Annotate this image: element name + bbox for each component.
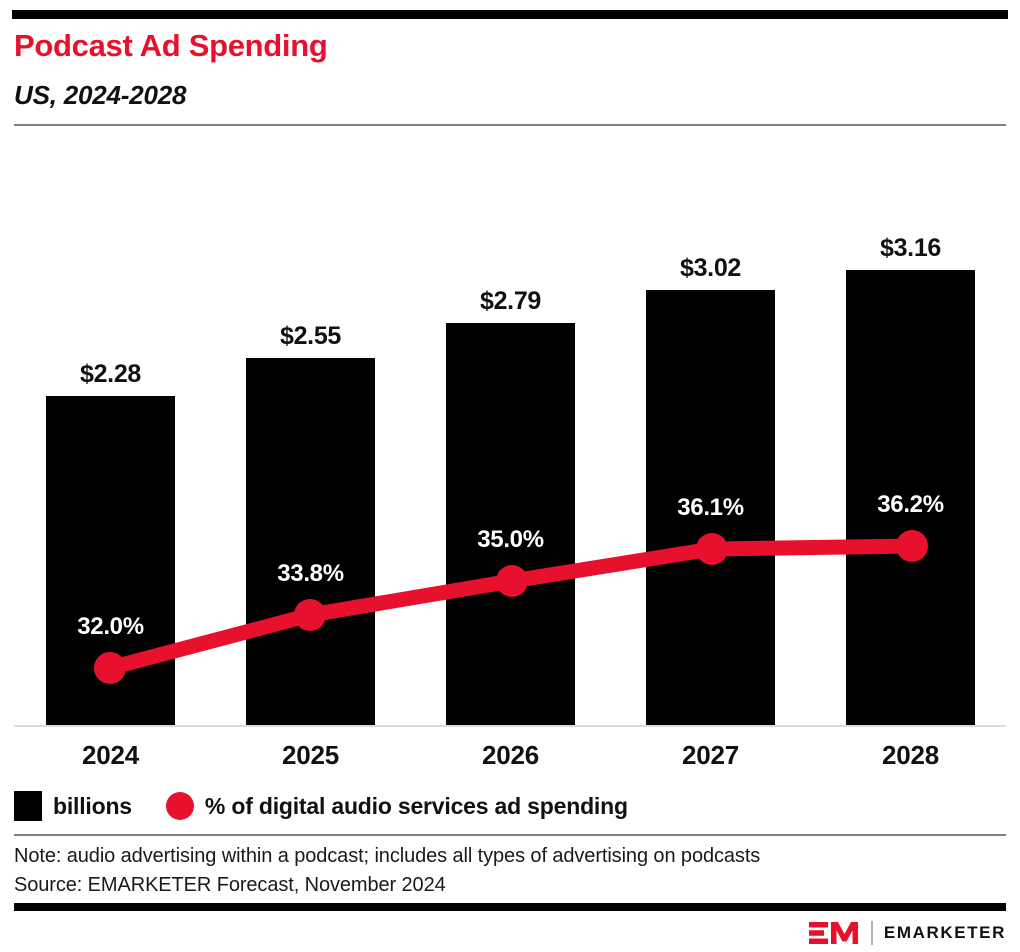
chart-note: Note: audio advertising within a podcast… [14,845,760,868]
bar-value-label-2025: $2.55 [246,322,375,351]
chart-source: Source: EMARKETER Forecast, November 202… [14,874,446,897]
bar-2024 [46,396,175,725]
bar-value-label-2028: $3.16 [846,234,975,263]
legend-divider [14,834,1006,836]
x-axis-label-2024: 2024 [46,740,175,771]
percent-value-label-2027: 36.1% [646,494,775,522]
bottom-rule [14,903,1006,911]
brand-divider [871,921,873,945]
x-axis-label-2026: 2026 [446,740,575,771]
chart-page: Podcast Ad Spending US, 2024-2028 $2.28 … [0,0,1020,952]
chart-plot-area: $2.28 $2.55 $2.79 $3.02 $3.16 32.0% 33.8… [0,0,1020,740]
em-logo-icon [809,921,861,945]
percent-value-label-2024: 32.0% [46,613,175,641]
brand-logo: EMARKETER [809,920,1006,946]
x-axis-label-2025: 2025 [246,740,375,771]
legend-label-billions: billions [53,793,132,820]
brand-wordmark: EMARKETER [884,923,1006,943]
x-axis-baseline [14,725,1006,727]
bar-value-label-2027: $3.02 [646,254,775,283]
legend-circle-icon [166,792,194,820]
bar-2026 [446,323,575,725]
chart-legend: billions % of digital audio services ad … [14,789,662,823]
legend-item-percent: % of digital audio services ad spending [166,792,628,820]
bar-value-label-2026: $2.79 [446,287,575,316]
percent-value-label-2025: 33.8% [246,560,375,588]
percent-value-label-2026: 35.0% [446,526,575,554]
legend-label-percent: % of digital audio services ad spending [205,793,628,820]
bar-value-label-2024: $2.28 [46,360,175,389]
x-axis-label-2027: 2027 [646,740,775,771]
x-axis-label-2028: 2028 [846,740,975,771]
legend-square-icon [14,791,42,821]
percent-value-label-2028: 36.2% [846,491,975,519]
bar-2025 [246,358,375,725]
legend-item-billions: billions [14,791,132,821]
